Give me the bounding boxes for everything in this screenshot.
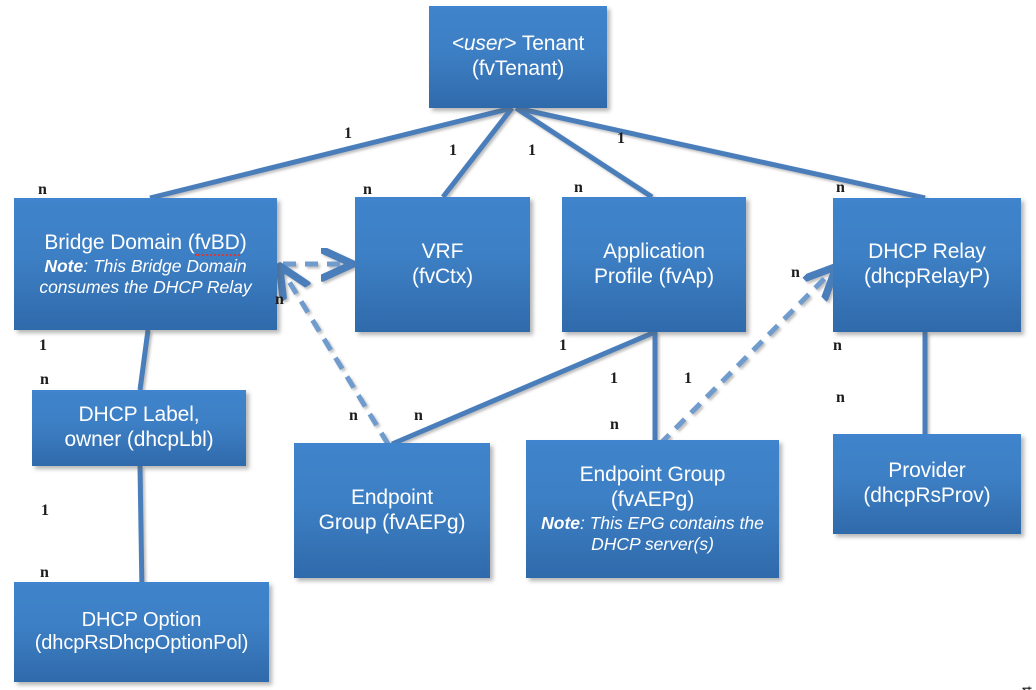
- node-dhcp-option-line1: DHCP Option: [82, 609, 202, 632]
- node-bridge-domain-title-tail: ): [240, 231, 247, 254]
- cardinality-epg-right-dashed-n: 1: [684, 371, 692, 387]
- node-epg-left[interactable]: Endpoint Group (fvAEPg): [294, 443, 490, 578]
- node-dhcp-label-line1: DHCP Label,: [78, 403, 199, 428]
- node-dhcp-label[interactable]: DHCP Label, owner (dhcpLbl): [32, 390, 246, 466]
- cardinality-bridge-domain-top: n: [38, 182, 47, 198]
- cardinality-epg-left-dashed-n: n: [349, 408, 358, 424]
- cardinality-dhcp-label-top: n: [40, 372, 49, 388]
- node-vrf-line1: VRF: [422, 240, 464, 265]
- node-provider[interactable]: Provider (dhcpRsProv): [833, 434, 1021, 534]
- cardinality-vrf-top: n: [363, 182, 372, 198]
- cardinality-dhcp-relay-dashed-n: n: [791, 265, 800, 281]
- node-epg-right-note: Note: This EPG contains the DHCP server(…: [532, 513, 773, 554]
- node-dhcp-relay-line2: (dhcpRelayP): [864, 265, 990, 290]
- cardinality-bridge-domain-bottom-one: 1: [39, 338, 47, 354]
- cardinality-dhcp-relay-top: n: [836, 180, 845, 196]
- node-dhcp-option-line2: (dhcpRsDhcpOptionPol): [35, 632, 249, 655]
- node-bridge-domain-title-text: Bridge Domain (: [44, 231, 194, 254]
- cardinality-app-profile-epg-left-one: 1: [559, 338, 567, 354]
- node-epg-left-line2: Group (fvAEPg): [319, 511, 466, 536]
- node-epg-right-line2: (fvAEPg): [611, 488, 694, 513]
- cardinality-epg-right-top-n: n: [610, 417, 619, 433]
- node-epg-right-note-label: Note: [541, 513, 580, 533]
- node-bridge-domain-title: Bridge Domain (fvBD): [44, 231, 246, 256]
- node-epg-right-note-text: : This EPG contains the DHCP server(s): [580, 513, 764, 554]
- node-epg-right[interactable]: Endpoint Group (fvAEPg) Note: This EPG c…: [526, 440, 779, 578]
- cardinality-tenant-bridge-domain: 1: [344, 126, 352, 142]
- cardinality-dhcp-option-top: n: [40, 565, 49, 581]
- node-bridge-domain-class-name: fvBD: [195, 231, 240, 256]
- figure-id: 349124: [1019, 686, 1034, 690]
- node-vrf-line2: (fvCtx): [412, 265, 473, 290]
- node-dhcp-label-line2: owner (dhcpLbl): [64, 428, 213, 453]
- edge-dhcp-label-dhcp-option: [140, 466, 142, 592]
- node-tenant-title: <user> Tenant: [452, 32, 585, 57]
- node-tenant[interactable]: <user> Tenant (fvTenant): [429, 6, 607, 108]
- cardinality-bridge-domain-dashed-n: n: [275, 292, 284, 308]
- node-tenant-title-prefix: <user: [452, 32, 505, 55]
- node-tenant-subtitle: (fvTenant): [472, 57, 564, 82]
- edge-bridge-domain-dhcp-label: [140, 330, 148, 390]
- cardinality-app-profile-epg-right-one: 1: [610, 371, 618, 387]
- node-app-profile[interactable]: Application Profile (fvAp): [562, 197, 746, 332]
- node-app-profile-line1: Application: [603, 240, 705, 265]
- node-app-profile-line2: Profile (fvAp): [594, 265, 714, 290]
- node-dhcp-relay[interactable]: DHCP Relay (dhcpRelayP): [833, 198, 1021, 332]
- node-dhcp-relay-line1: DHCP Relay: [868, 240, 986, 265]
- node-provider-line2: (dhcpRsProv): [863, 484, 990, 509]
- cardinality-dhcp-relay-bottom-one: n: [833, 338, 842, 354]
- node-epg-left-line1: Endpoint: [351, 486, 433, 511]
- node-provider-line1: Provider: [888, 459, 965, 484]
- cardinality-app-profile-top: n: [574, 180, 583, 196]
- node-bridge-domain-note-label: Note: [44, 256, 83, 276]
- node-vrf[interactable]: VRF (fvCtx): [355, 197, 530, 332]
- cardinality-tenant-dhcp-relay: 1: [617, 131, 625, 147]
- cardinality-epg-left-solid-n: n: [414, 408, 423, 424]
- node-dhcp-option[interactable]: DHCP Option (dhcpRsDhcpOptionPol): [14, 582, 269, 682]
- node-bridge-domain-note: Note: This Bridge Domain consumes the DH…: [20, 256, 271, 297]
- cardinality-dhcp-label-bottom: 1: [41, 503, 49, 519]
- edge-tenant-bridge-domain: [150, 108, 512, 198]
- cardinality-tenant-vrf: 1: [449, 143, 457, 159]
- cardinality-provider-top: n: [836, 390, 845, 406]
- node-tenant-title-suffix: > Tenant: [504, 32, 584, 55]
- node-epg-right-line1: Endpoint Group: [580, 463, 726, 488]
- node-bridge-domain[interactable]: Bridge Domain (fvBD) Note: This Bridge D…: [14, 198, 277, 330]
- cardinality-tenant-app-profile: 1: [528, 143, 536, 159]
- diagram-canvas: VRF (consumes) --> Bridge Domain --> DHC…: [0, 0, 1036, 690]
